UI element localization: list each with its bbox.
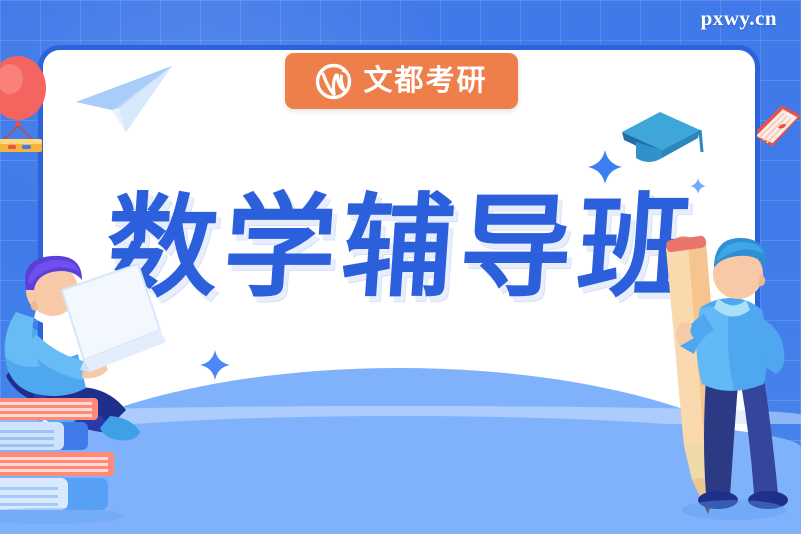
graduation-cap-icon: [616, 108, 704, 170]
paper-plane-icon: [72, 62, 180, 136]
sparkle-star-icon: [200, 350, 230, 380]
brand-badge[interactable]: 文都考研: [285, 53, 518, 109]
balloon-icon: [0, 55, 52, 153]
wendu-circle-logo-icon: [315, 63, 352, 100]
student-with-pencil-illustration: [648, 222, 801, 534]
sparkle-star-icon: [588, 150, 622, 184]
book-stack-illustration: [0, 392, 161, 534]
brand-name-label: 文都考研: [363, 67, 487, 96]
open-book-icon: [757, 104, 801, 178]
watermark-label: pxwy.cn: [701, 6, 777, 31]
sparkle-star-icon: [690, 178, 706, 194]
banner-stage: 文都考研 数学辅导班 pxwy.cn: [0, 0, 801, 534]
